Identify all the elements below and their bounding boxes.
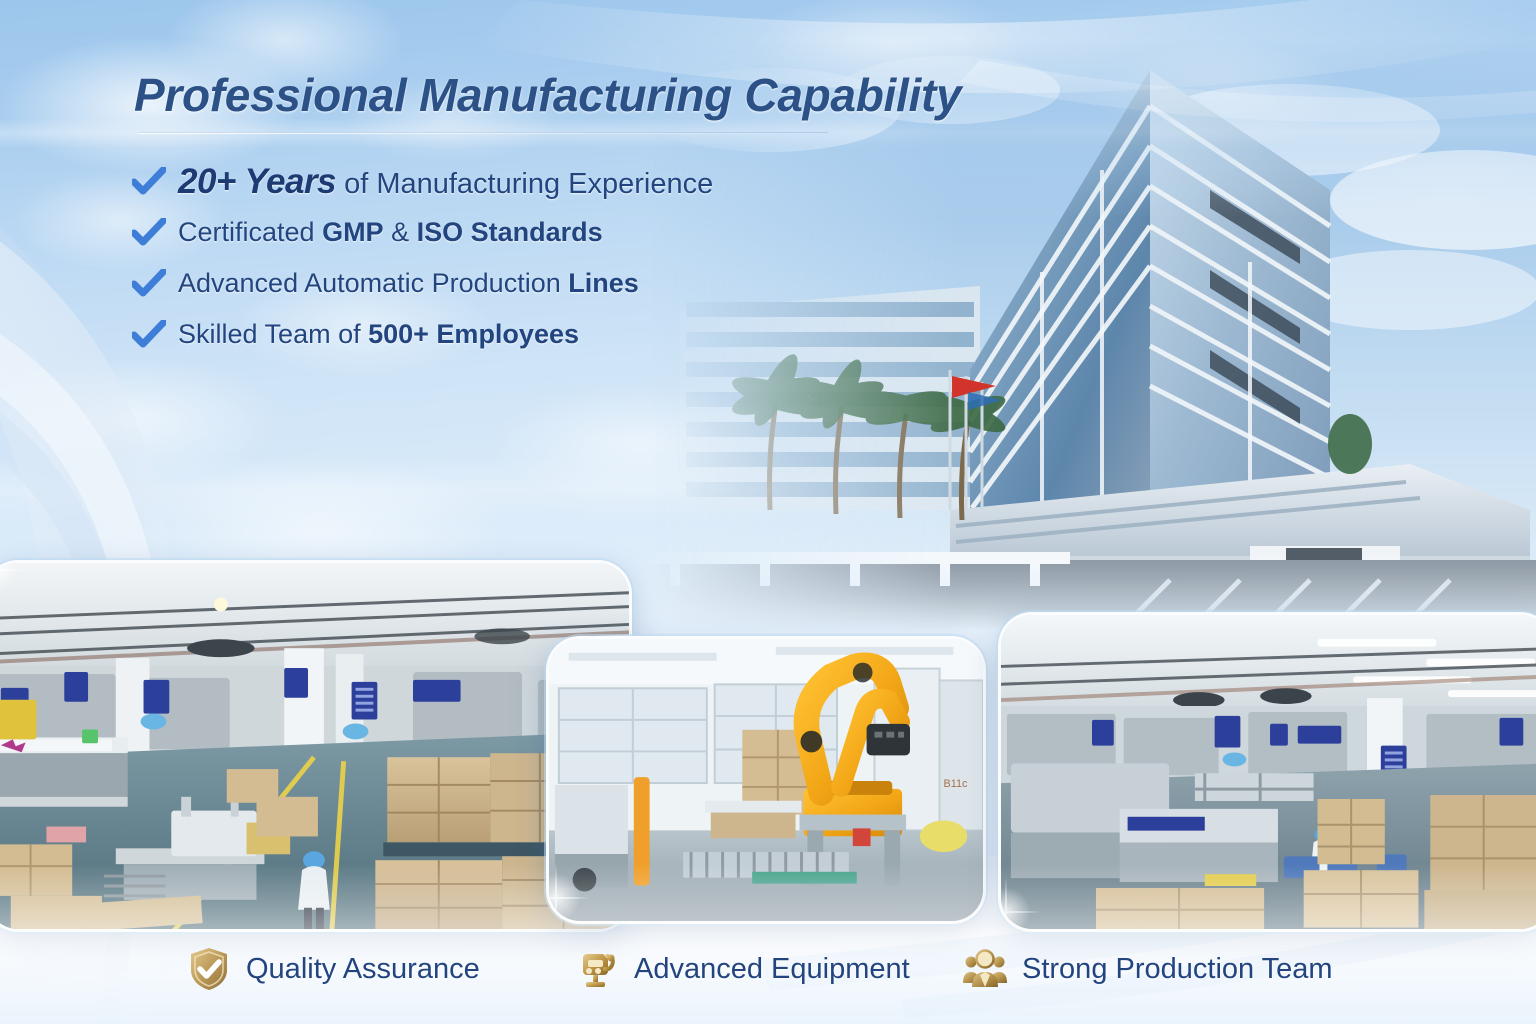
check-icon [132, 320, 166, 350]
text-bold-gmp: GMP [322, 217, 384, 247]
list-item: Skilled Team of 500+ Employees [132, 309, 892, 360]
feature-label: Strong Production Team [1022, 953, 1333, 986]
check-icon [132, 218, 166, 248]
team-group-icon [962, 946, 1008, 992]
text-pre: Skilled Team of [178, 319, 368, 349]
check-icon [132, 269, 166, 299]
feature-advanced-equipment: Advanced Equipment [574, 946, 910, 992]
list-item: 20+ Years of Manufacturing Experience [132, 156, 892, 207]
feature-caption-bar: Quality Assurance Advanced [0, 938, 1536, 1008]
svg-text:B11c: B11c [944, 778, 968, 790]
years-rest: of Manufacturing Experience [336, 168, 713, 200]
page-title: Professional Manufacturing Capability [134, 68, 961, 122]
list-item-label: Skilled Team of 500+ Employees [178, 319, 579, 350]
list-item: Advanced Automatic Production Lines [132, 258, 892, 309]
promo-banner: Professional Manufacturing Capability 20… [0, 0, 1536, 1024]
robot-palletizer-panel: B11c [546, 636, 986, 924]
list-item: Certificated GMP & ISO Standards [132, 207, 892, 258]
text-pre: Certificated [178, 217, 322, 247]
factory-floor-panel [0, 560, 632, 932]
text-bold-iso: ISO Standards [417, 217, 603, 247]
capability-list: 20+ Years of Manufacturing Experience Ce… [132, 156, 892, 360]
feature-quality-assurance: Quality Assurance [186, 946, 480, 992]
feature-label: Advanced Equipment [634, 953, 910, 986]
text-bold-lines: Lines [568, 268, 639, 298]
text-pre: Advanced Automatic Production [178, 268, 568, 298]
shield-check-icon [186, 946, 232, 992]
packaging-hall-panel [998, 612, 1536, 932]
title-divider [138, 132, 828, 134]
list-item-label: 20+ Years of Manufacturing Experience [178, 162, 713, 202]
feature-strong-production-team: Strong Production Team [962, 946, 1333, 992]
machine-icon [574, 946, 620, 992]
check-icon [132, 167, 166, 197]
years-highlight: 20+ Years [178, 162, 336, 201]
text-mid: & [384, 217, 417, 247]
text-bold-employees: 500+ Employees [368, 319, 579, 349]
list-item-label: Certificated GMP & ISO Standards [178, 217, 603, 248]
feature-label: Quality Assurance [246, 953, 480, 986]
list-item-label: Advanced Automatic Production Lines [178, 268, 639, 299]
